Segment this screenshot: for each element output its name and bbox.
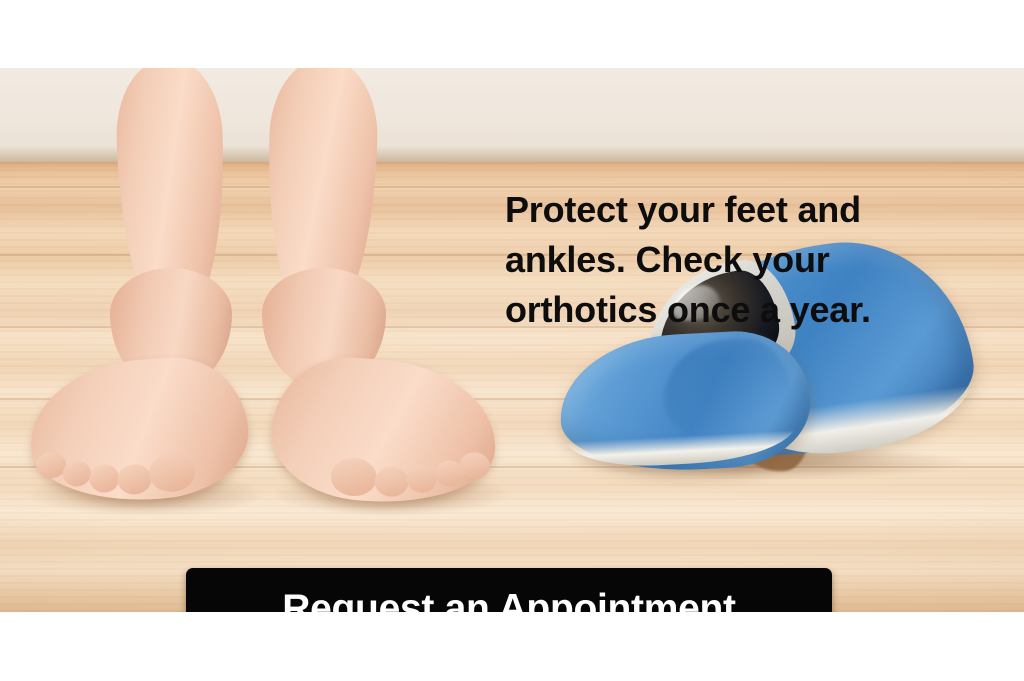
toe <box>459 451 491 479</box>
orthotics-promo-banner: Protect your feet and ankles. Check your… <box>0 0 1024 681</box>
big-toe <box>148 452 197 493</box>
toe <box>62 459 92 487</box>
headline-line-2: ankles. Check your <box>505 235 965 285</box>
letterbox-band-bottom <box>0 612 1024 681</box>
headline: Protect your feet and ankles. Check your… <box>505 185 965 335</box>
toe <box>116 463 152 495</box>
toe <box>373 465 409 497</box>
headline-line-3: orthotics once a year. <box>505 285 965 335</box>
request-appointment-button[interactable]: Request an Appointment <box>186 568 832 612</box>
letterbox-band-top <box>0 0 1024 68</box>
big-toe <box>329 456 378 497</box>
headline-line-1: Protect your feet and <box>505 185 965 235</box>
banner-photo: Protect your feet and ankles. Check your… <box>0 68 1024 612</box>
bare-feet-group <box>0 68 520 488</box>
toe <box>406 464 438 494</box>
request-appointment-label: Request an Appointment <box>282 589 735 613</box>
toe <box>88 464 120 494</box>
